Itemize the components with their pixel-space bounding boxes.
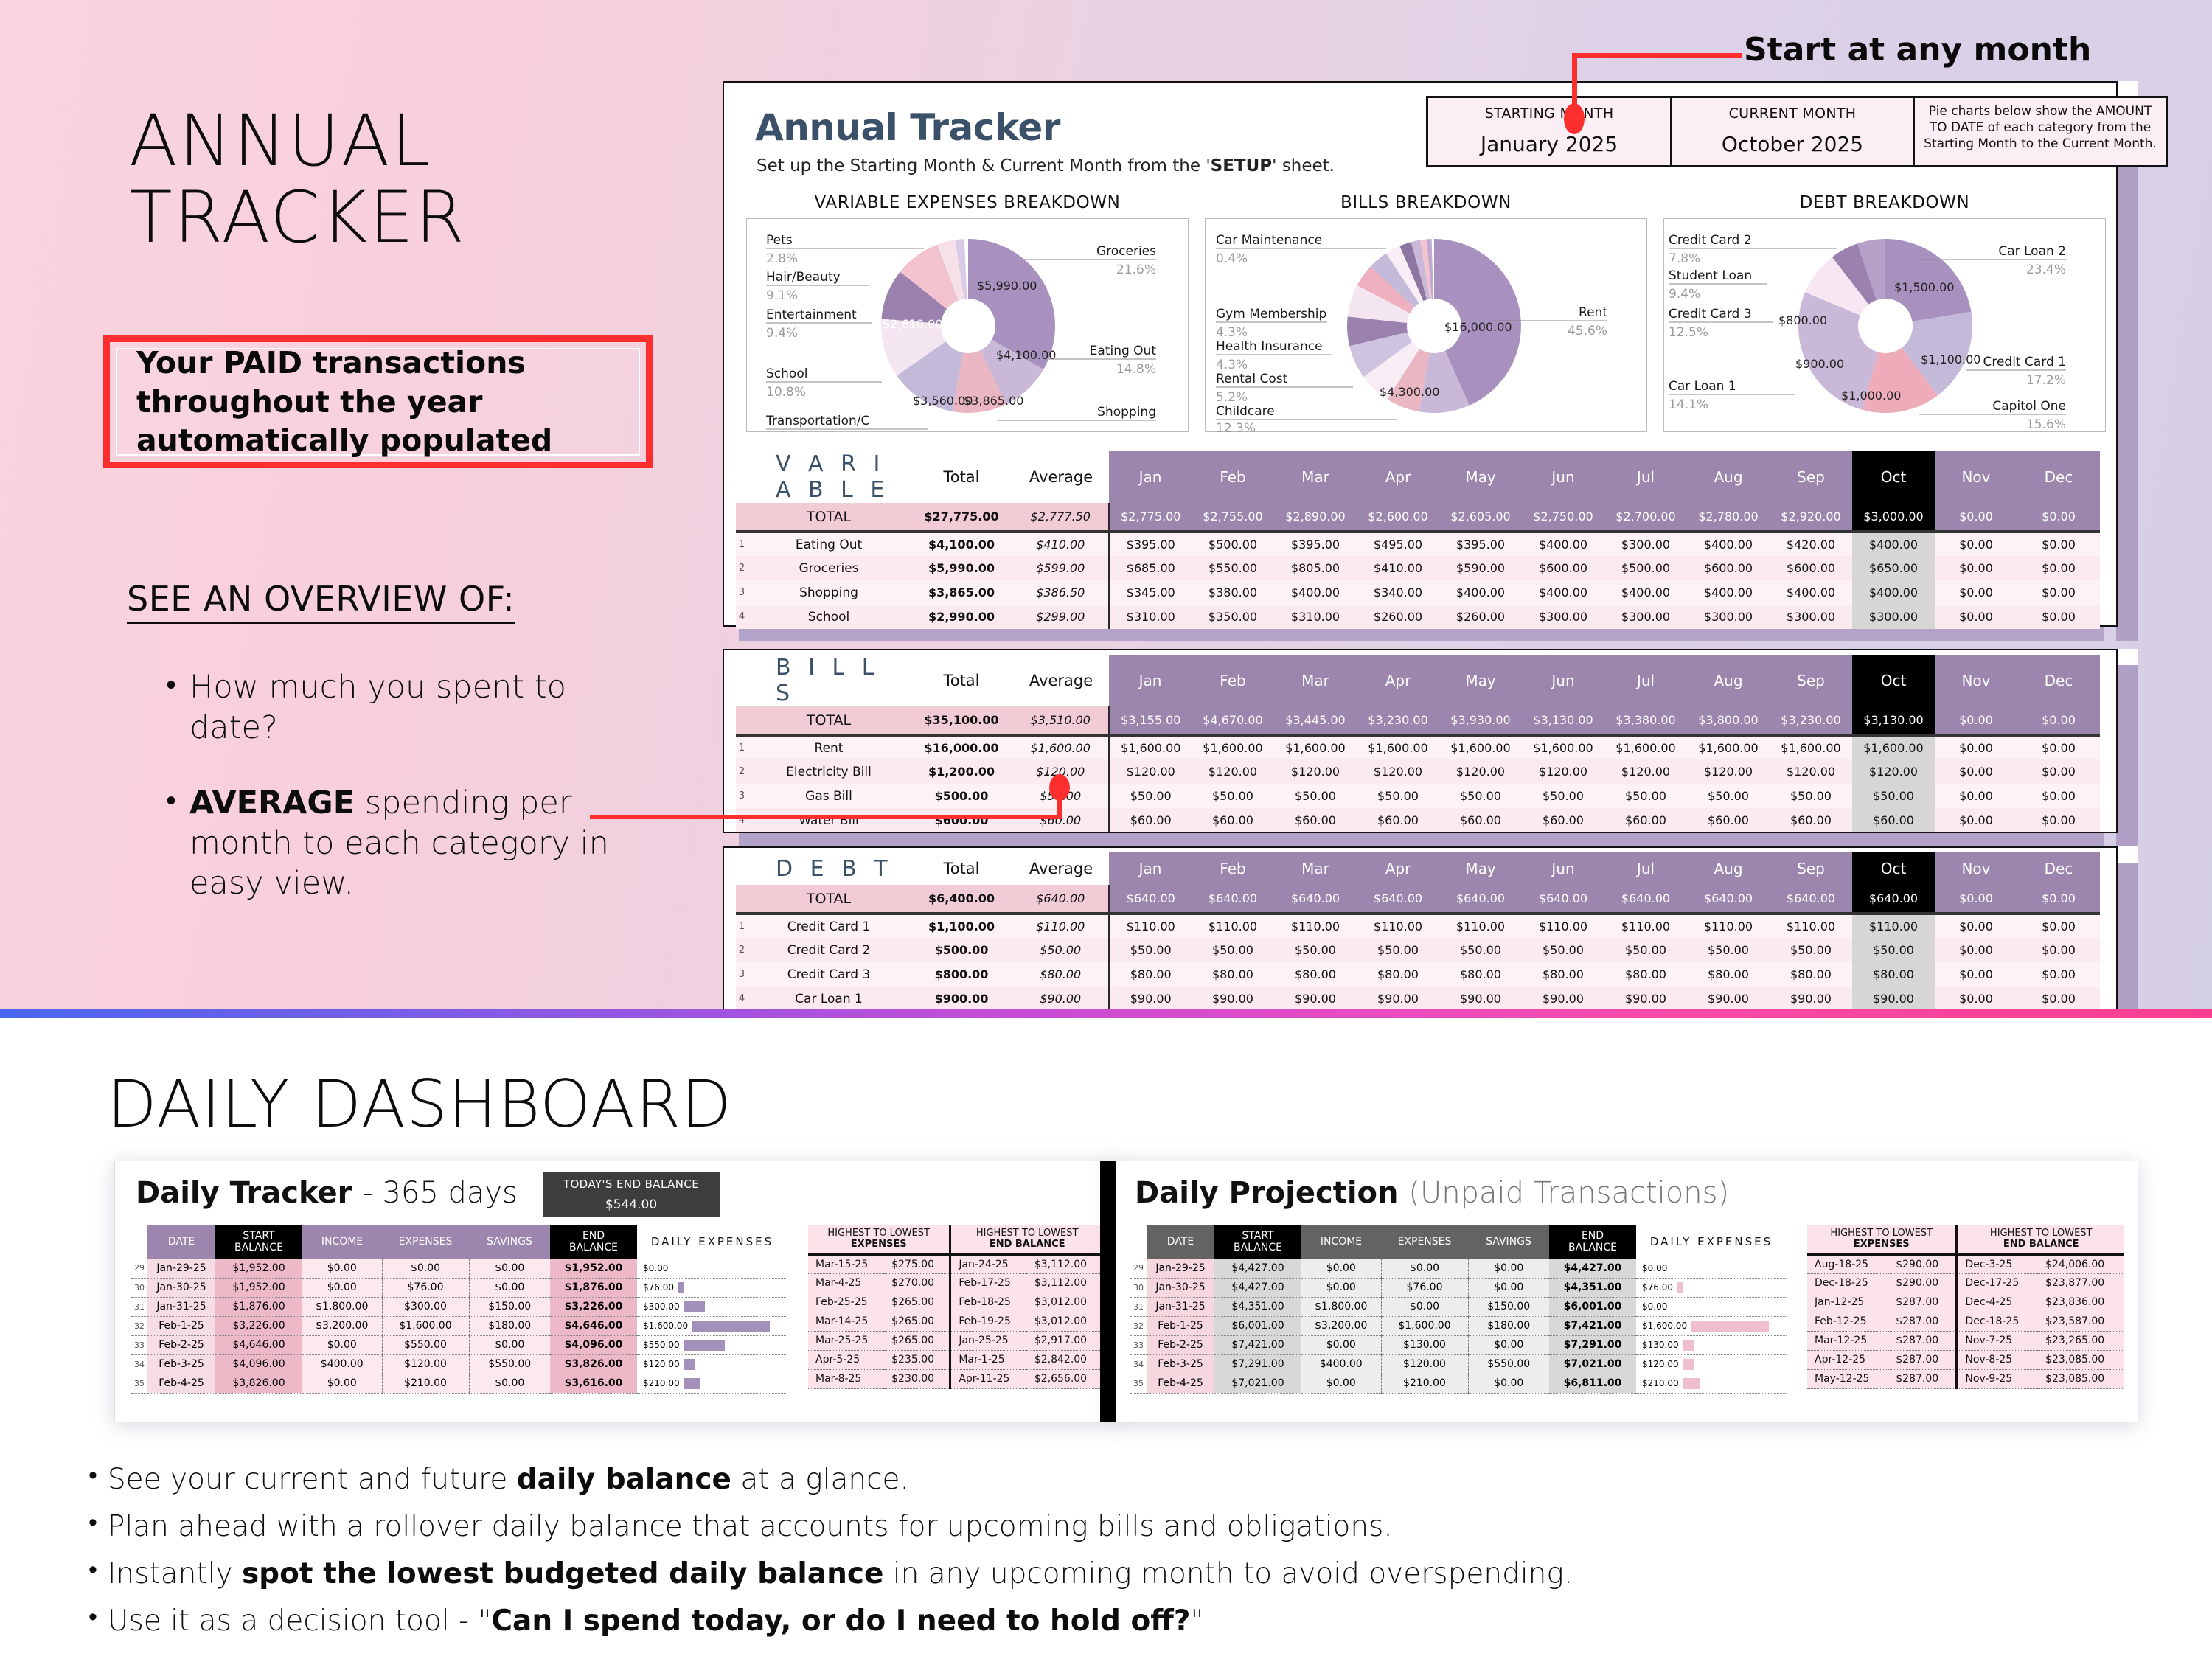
- cell-balance-date: Mar-1-25: [950, 1350, 1027, 1369]
- row-average: $299.00: [1013, 605, 1109, 629]
- row-number: 3: [736, 962, 748, 987]
- column-header-jul: Jul: [1604, 451, 1687, 503]
- month-cell: $120.00: [1852, 759, 1935, 784]
- row-average: $1,600.00: [1013, 735, 1109, 759]
- month-cell: $50.00: [1357, 938, 1439, 962]
- cell-expense-date: Jan-12-25: [1807, 1293, 1888, 1312]
- bullet-dot-icon: •: [166, 783, 176, 904]
- total-month-cell: $2,700.00: [1604, 503, 1687, 532]
- sheet-canvas: B I L L STotalAverageJanFebMarAprMayJunJ…: [723, 649, 2118, 833]
- bullet-dot-icon: •: [88, 1510, 97, 1544]
- total-row-average: $2,777.50: [1013, 503, 1109, 532]
- chart-title-bills: BILLS BREAKDOWN: [1205, 193, 1647, 212]
- month-cell: $120.00: [1109, 759, 1192, 784]
- sheet-bottom-shadow: [739, 627, 2104, 641]
- bullet-dot-icon: •: [88, 1463, 97, 1497]
- month-cell: $1,600.00: [1192, 735, 1274, 759]
- bills-table: B I L L STotalAverageJanFebMarAprMayJunJ…: [736, 655, 2100, 832]
- daily-dashboard-section: DAILY DASHBOARD Daily Tracker - 365 days…: [0, 1020, 2212, 1659]
- table-header-row: DATESTARTBALANCEINCOMEEXPENSESSAVINGSEND…: [1130, 1225, 1787, 1259]
- row-number: 34: [131, 1354, 147, 1374]
- column-header-savings: SAVINGS: [1468, 1225, 1549, 1259]
- table-total-row: TOTAL$27,775.00$2,777.50$2,775.00$2,755.…: [736, 503, 2100, 532]
- month-cell: $0.00: [1935, 808, 2017, 832]
- total-month-cell: $640.00: [1852, 885, 1935, 914]
- list-item: •Plan ahead with a rollover daily balanc…: [88, 1510, 2138, 1544]
- row-label: Credit Card 1: [748, 914, 910, 938]
- total-month-cell: $3,380.00: [1604, 706, 1687, 735]
- month-cell: $395.00: [1274, 532, 1357, 556]
- month-cell: $60.00: [1687, 808, 1770, 832]
- total-month-cell: $4,670.00: [1192, 706, 1274, 735]
- cell-income: $0.00: [302, 1278, 382, 1297]
- total-month-cell: $2,755.00: [1192, 503, 1274, 532]
- pie-label-credit-card-3: Credit Card 3: [1669, 307, 1752, 321]
- total-month-cell: $2,780.00: [1687, 503, 1770, 532]
- row-average: $80.00: [1013, 962, 1109, 987]
- total-month-cell: $2,605.00: [1439, 503, 1522, 532]
- pie-label-credit-card-2: Credit Card 2: [1669, 233, 1752, 248]
- dashboard-heading: DAILY DASHBOARD: [107, 1066, 732, 1142]
- month-cell: $650.00: [1852, 556, 1935, 580]
- total-month-cell: $640.00: [1192, 885, 1274, 914]
- annotation-start-at-any-month: Start at any month: [1744, 31, 2091, 69]
- column-header-oct: Oct: [1852, 655, 1935, 706]
- pie-value-eating-out: $4,100.00: [996, 348, 1056, 362]
- column-header-jan: Jan: [1109, 852, 1192, 885]
- table-row: 1Eating Out$4,100.00$410.00$395.00$500.0…: [736, 532, 2100, 556]
- cell-end-balance: $3,226.00: [550, 1297, 637, 1316]
- column-header-mar: Mar: [1274, 655, 1357, 706]
- table-row: 1Credit Card 1$1,100.00$110.00$110.00$11…: [736, 914, 2100, 938]
- bullet-dot-icon: •: [88, 1557, 97, 1591]
- pie-pct-credit-card-3: 12.5%: [1669, 325, 1708, 340]
- htl-balance-header: HIGHEST TO LOWESTEND BALANCE: [950, 1225, 1103, 1254]
- htl-balance-header: HIGHEST TO LOWESTEND BALANCE: [1957, 1225, 2124, 1254]
- month-cell: $400.00: [1687, 580, 1770, 605]
- cell-daily-expenses: $0.00: [1636, 1297, 1787, 1316]
- total-month-cell: $3,930.00: [1439, 706, 1522, 735]
- month-cell: $0.00: [1935, 938, 2017, 962]
- month-cell: $1,600.00: [1852, 735, 1935, 759]
- cell-expense-value: $287.00: [1888, 1350, 1957, 1369]
- column-header-income: INCOME: [1301, 1225, 1381, 1259]
- table-row: 2Electricity Bill$1,200.00$120.00$120.00…: [736, 759, 2100, 784]
- cell-balance-date: Nov-7-25: [1957, 1331, 2038, 1350]
- column-header-dec: Dec: [2017, 655, 2100, 706]
- table-row: 32Feb-1-25$6,001.00$3,200.00$1,600.00$18…: [1130, 1316, 1787, 1335]
- cell-expense-value: $287.00: [1888, 1293, 1957, 1312]
- total-row-average: $3,510.00: [1013, 706, 1109, 735]
- table-row: 2Groceries$5,990.00$599.00$685.00$550.00…: [736, 556, 2100, 580]
- cell-expenses: $210.00: [382, 1374, 469, 1393]
- month-cell: $0.00: [1935, 784, 2017, 808]
- cell-end-balance: $7,021.00: [1549, 1354, 1636, 1374]
- column-header-nov: Nov: [1935, 852, 2017, 885]
- pie-label-school: School: [766, 366, 807, 381]
- debt-table: D E B TTotalAverageJanFebMarAprMayJunJul…: [736, 852, 2100, 1011]
- cell-balance-value: $3,112.00: [1027, 1254, 1103, 1273]
- month-cell: $60.00: [1192, 808, 1274, 832]
- page-title: ANNUAL TRACKER: [129, 103, 704, 256]
- row-number-spacer: [736, 451, 748, 503]
- month-cell: $310.00: [1109, 605, 1192, 629]
- table-row: 4School$2,990.00$299.00$310.00$350.00$31…: [736, 605, 2100, 629]
- total-month-cell: $2,750.00: [1522, 503, 1604, 532]
- pie-label-childcare: Childcare: [1216, 404, 1275, 419]
- month-cell: $60.00: [1274, 808, 1357, 832]
- overview-heading: SEE AN OVERVIEW OF:: [127, 579, 515, 624]
- cell-expense-date: Apr-5-25: [808, 1350, 884, 1369]
- month-cell: $80.00: [1852, 962, 1935, 987]
- month-cell: $0.00: [2017, 605, 2100, 629]
- row-number: 31: [131, 1297, 147, 1316]
- month-cell: $90.00: [1522, 987, 1604, 1011]
- sheet-title: Annual Tracker: [755, 106, 1060, 149]
- cell-savings: $0.00: [469, 1259, 550, 1278]
- bullet-dot-icon: •: [88, 1604, 97, 1638]
- cell-balance-date: Jan-25-25: [950, 1331, 1027, 1350]
- cell-date: Jan-30-25: [1147, 1278, 1214, 1297]
- table-row: 32Feb-1-25$3,226.00$3,200.00$1,600.00$18…: [131, 1316, 787, 1335]
- month-cell: $90.00: [1687, 987, 1770, 1011]
- row-number: 33: [1130, 1335, 1147, 1354]
- total-month-cell: $3,230.00: [1357, 706, 1439, 735]
- sheet-edge-shadow: [2116, 863, 2138, 1018]
- month-cell: $120.00: [1439, 759, 1522, 784]
- cell-date: Feb-1-25: [1147, 1316, 1214, 1335]
- pie-pct-car-maintenance: 0.4%: [1216, 251, 1248, 266]
- cell-expense-value: $287.00: [1888, 1312, 1957, 1331]
- column-header-mar: Mar: [1274, 451, 1357, 503]
- cell-expense-value: $290.00: [1888, 1273, 1957, 1293]
- month-cell: $400.00: [1687, 532, 1770, 556]
- month-cell: $120.00: [1770, 759, 1852, 784]
- month-cell: $500.00: [1604, 556, 1687, 580]
- pie-value-transportation: $3,560.00: [913, 394, 973, 408]
- cell-balance-date: Nov-9-25: [1957, 1369, 2038, 1388]
- section-divider: [1100, 1161, 1116, 1422]
- month-cell: $1,600.00: [1274, 735, 1357, 759]
- page-title-line2: TRACKER: [129, 180, 704, 257]
- column-header-jan: Jan: [1109, 451, 1192, 503]
- total-month-cell: $3,130.00: [1522, 706, 1604, 735]
- month-cell: $395.00: [1439, 532, 1522, 556]
- column-header-feb: Feb: [1192, 852, 1274, 885]
- cell-daily-expenses: $120.00: [637, 1354, 787, 1374]
- column-header-apr: Apr: [1357, 655, 1439, 706]
- highest-lowest-projection-table: HIGHEST TO LOWESTEXPENSESHIGHEST TO LOWE…: [1807, 1225, 2124, 1389]
- column-header-date: DATE: [1147, 1225, 1214, 1259]
- column-header-total: Total: [910, 655, 1013, 706]
- column-header-average: Average: [1013, 451, 1109, 503]
- cell-expense-date: Mar-4-25: [808, 1273, 884, 1293]
- row-label: Credit Card 2: [748, 938, 910, 962]
- month-cell: $0.00: [2017, 962, 2100, 987]
- column-header-mar: Mar: [1274, 852, 1357, 885]
- month-cell: $400.00: [1852, 532, 1935, 556]
- cell-date: Jan-31-25: [147, 1297, 215, 1316]
- column-header-expenses: EXPENSES: [1381, 1225, 1468, 1259]
- month-cell: $590.00: [1439, 556, 1522, 580]
- month-cell: $0.00: [1935, 759, 2017, 784]
- cell-end-balance: $6,001.00: [1549, 1297, 1636, 1316]
- row-label: Gas Bill: [748, 784, 910, 808]
- total-month-cell: $3,000.00: [1852, 503, 1935, 532]
- list-item: • How much you spent to date?: [166, 667, 653, 748]
- todays-end-balance-value: $544.00: [543, 1197, 720, 1212]
- current-month-box[interactable]: CURRENT MONTH October 2025: [1672, 98, 1915, 165]
- column-header-total: Total: [910, 852, 1013, 885]
- cell-expense-value: $265.00: [884, 1331, 950, 1350]
- highest-lowest-tracker-table: HIGHEST TO LOWESTEXPENSESHIGHEST TO LOWE…: [808, 1225, 1103, 1389]
- cell-expenses: $76.00: [1381, 1278, 1468, 1297]
- cell-date: Feb-2-25: [1147, 1335, 1214, 1354]
- cell-expenses: $1,600.00: [382, 1316, 469, 1335]
- month-selector-bar: STARTING MONTH January 2025 CURRENT MONT…: [1426, 96, 2168, 167]
- column-header-jul: Jul: [1604, 655, 1687, 706]
- month-cell: $345.00: [1109, 580, 1192, 605]
- cell-savings: $0.00: [1468, 1259, 1549, 1278]
- cell-income: $0.00: [1301, 1374, 1381, 1393]
- table-row: 31Jan-31-25$4,351.00$1,800.00$0.00$150.0…: [1130, 1297, 1787, 1316]
- cell-expenses: $210.00: [1381, 1374, 1468, 1393]
- cell-expenses: $0.00: [1381, 1297, 1468, 1316]
- month-cell: $110.00: [1274, 914, 1357, 938]
- column-header-dec: Dec: [2017, 852, 2100, 885]
- cell-start-balance: $6,001.00: [1214, 1316, 1301, 1335]
- cell-balance-value: $23,265.00: [2038, 1331, 2124, 1350]
- month-cell: $120.00: [1604, 759, 1687, 784]
- column-header-feb: Feb: [1192, 655, 1274, 706]
- column-header-sep: Sep: [1770, 852, 1852, 885]
- pie-value-credit-card-1: $1,100.00: [1921, 352, 1980, 366]
- row-total: $1,200.00: [910, 759, 1013, 784]
- column-header-daily-expenses: DAILY EXPENSES: [1636, 1225, 1787, 1259]
- table-row: 30Jan-30-25$1,952.00$0.00$76.00$0.00$1,8…: [131, 1278, 787, 1297]
- pie-svg-debt: $1,500.00 $1,100.00 $1,000.00 $900.00 $8…: [1664, 219, 2107, 433]
- cell-start-balance: $7,291.00: [1214, 1354, 1301, 1374]
- table-row: 4Car Loan 1$900.00$90.00$90.00$90.00$90.…: [736, 987, 2100, 1011]
- column-header-start-balance: STARTBALANCE: [1214, 1225, 1301, 1259]
- month-cell: $400.00: [1604, 580, 1687, 605]
- total-month-cell: $3,445.00: [1274, 706, 1357, 735]
- cell-date: Jan-31-25: [1147, 1297, 1214, 1316]
- current-month-label: CURRENT MONTH: [1683, 105, 1902, 122]
- table-row: 30Jan-30-25$4,427.00$0.00$76.00$0.00$4,3…: [1130, 1278, 1787, 1297]
- cell-savings: $0.00: [1468, 1278, 1549, 1297]
- pie-value-car-loan-1: $900.00: [1795, 357, 1844, 371]
- row-number: 4: [736, 808, 748, 832]
- annual-tracker-sheet: Annual Tracker Set up the Starting Month…: [723, 81, 2138, 627]
- month-cell: $600.00: [1770, 556, 1852, 580]
- row-number: 35: [131, 1374, 147, 1393]
- table-header-row: HIGHEST TO LOWESTEXPENSESHIGHEST TO LOWE…: [1807, 1225, 2124, 1254]
- total-row-label: TOTAL: [748, 503, 910, 532]
- table-row: Jan-12-25$287.00Dec-4-25$23,836.00: [1807, 1293, 2124, 1312]
- column-header-apr: Apr: [1357, 451, 1439, 503]
- pie-chart-row: VARIABLE EXPENSES BREAKDOWN: [746, 193, 2106, 432]
- pie-pct-credit-card-2: 7.8%: [1669, 251, 1700, 266]
- cell-date: Feb-4-25: [147, 1374, 215, 1393]
- column-header-average: Average: [1013, 852, 1109, 885]
- cell-expense-value: $290.00: [1888, 1254, 1957, 1273]
- cell-expenses: $300.00: [382, 1297, 469, 1316]
- starting-month-value: January 2025: [1440, 132, 1658, 156]
- month-cell: $410.00: [1357, 556, 1439, 580]
- month-cell: $90.00: [1274, 987, 1357, 1011]
- cell-end-balance: $6,811.00: [1549, 1374, 1636, 1393]
- cell-expense-date: Mar-15-25: [808, 1254, 884, 1273]
- column-header-jun: Jun: [1522, 655, 1604, 706]
- pie-label-car-loan-1: Car Loan 1: [1669, 379, 1736, 394]
- month-cell: $120.00: [1687, 759, 1770, 784]
- month-cell: $110.00: [1852, 914, 1935, 938]
- table-row: 29Jan-29-25$1,952.00$0.00$0.00$0.00$1,95…: [131, 1259, 787, 1278]
- sheet-canvas: D E B TTotalAverageJanFebMarAprMayJunJul…: [723, 846, 2118, 1010]
- month-cell: $60.00: [1770, 808, 1852, 832]
- column-header-total: Total: [910, 451, 1013, 503]
- column-header-may: May: [1439, 852, 1522, 885]
- bullet-text: Plan ahead with a rollover daily balance…: [108, 1510, 1393, 1544]
- callout-text: Your PAID transactions throughout the ye…: [136, 344, 619, 459]
- bills-sheet: B I L L STotalAverageJanFebMarAprMayJunJ…: [723, 649, 2138, 833]
- month-cell: $600.00: [1687, 556, 1770, 580]
- cell-expense-value: $230.00: [884, 1369, 950, 1388]
- total-month-cell: $2,920.00: [1770, 503, 1852, 532]
- column-header-daily-expenses: DAILY EXPENSES: [637, 1225, 787, 1259]
- month-cell: $50.00: [1274, 938, 1357, 962]
- total-row-total: $6,400.00: [910, 885, 1013, 914]
- table-header-row: B I L L STotalAverageJanFebMarAprMayJunJ…: [736, 655, 2100, 706]
- month-cell: $90.00: [1439, 987, 1522, 1011]
- pie-value-credit-card-3: $800.00: [1778, 313, 1827, 327]
- cell-start-balance: $7,021.00: [1214, 1374, 1301, 1393]
- month-cell: $400.00: [1274, 580, 1357, 605]
- cell-savings: $0.00: [1468, 1374, 1549, 1393]
- row-number: 32: [131, 1316, 147, 1335]
- month-cell: $60.00: [1109, 808, 1192, 832]
- table-header-row: DATESTARTBALANCEINCOMEEXPENSESSAVINGSEND…: [131, 1225, 787, 1259]
- row-average: $599.00: [1013, 556, 1109, 580]
- month-cell: $0.00: [1935, 987, 2017, 1011]
- cell-expenses: $120.00: [382, 1354, 469, 1374]
- cell-daily-expenses: $120.00: [1636, 1354, 1787, 1374]
- row-label: School: [748, 605, 910, 629]
- chart-card-debt: DEBT BREAKDOWN: [1663, 193, 2106, 432]
- row-label: Water Bill: [748, 808, 910, 832]
- cell-income: $0.00: [302, 1335, 382, 1354]
- cell-savings: $0.00: [469, 1335, 550, 1354]
- cell-start-balance: $3,226.00: [215, 1316, 302, 1335]
- total-month-cell: $640.00: [1522, 885, 1604, 914]
- month-cell: $50.00: [1604, 938, 1687, 962]
- row-number: 30: [1130, 1278, 1147, 1297]
- month-cell: $80.00: [1109, 962, 1192, 987]
- month-cell: $110.00: [1604, 914, 1687, 938]
- total-month-cell: $0.00: [1935, 503, 2017, 532]
- total-row-label: TOTAL: [748, 885, 910, 914]
- cell-balance-value: $3,012.00: [1027, 1293, 1103, 1312]
- starting-month-box[interactable]: STARTING MONTH January 2025: [1428, 98, 1672, 165]
- month-cell: $80.00: [1192, 962, 1274, 987]
- cell-expense-date: Mar-8-25: [808, 1369, 884, 1388]
- cell-savings: $0.00: [469, 1374, 550, 1393]
- table-row: Aug-18-25$290.00Dec-3-25$24,006.00: [1807, 1254, 2124, 1273]
- month-cell: $50.00: [1522, 938, 1604, 962]
- month-cell: $400.00: [1522, 532, 1604, 556]
- cell-date: Feb-2-25: [147, 1335, 215, 1354]
- month-cell: $395.00: [1109, 532, 1192, 556]
- month-cell: $80.00: [1770, 962, 1852, 987]
- cell-date: Feb-3-25: [147, 1354, 215, 1374]
- month-cell: $80.00: [1687, 962, 1770, 987]
- cell-daily-expenses: $210.00: [1636, 1374, 1787, 1393]
- total-month-cell: $3,130.00: [1852, 706, 1935, 735]
- sheet-edge-shadow: [2116, 665, 2138, 848]
- table-row: Mar-12-25$287.00Nov-7-25$23,265.00: [1807, 1331, 2124, 1350]
- chart-title-variable: VARIABLE EXPENSES BREAKDOWN: [746, 193, 1189, 212]
- column-header-jan: Jan: [1109, 655, 1192, 706]
- pie-value-capitol-one: $1,000.00: [1841, 389, 1901, 403]
- cell-expenses: $0.00: [1381, 1259, 1468, 1278]
- cell-expense-value: $275.00: [884, 1254, 950, 1273]
- sheet-canvas: Annual Tracker Set up the Starting Month…: [723, 81, 2118, 627]
- debt-sheet: D E B TTotalAverageJanFebMarAprMayJunJul…: [723, 846, 2138, 1010]
- cell-date: Jan-30-25: [147, 1278, 215, 1297]
- cell-end-balance: $7,421.00: [1549, 1316, 1636, 1335]
- pie-pct-gym-membership: 4.3%: [1216, 325, 1248, 340]
- cell-income: $0.00: [1301, 1278, 1381, 1297]
- table-row: 33Feb-2-25$4,646.00$0.00$550.00$0.00$4,0…: [131, 1335, 787, 1354]
- annotation-line-horizontal: [1572, 53, 1742, 58]
- table-row: May-12-25$287.00Nov-9-25$23,085.00: [1807, 1369, 2124, 1388]
- table-row: 3Credit Card 3$800.00$80.00$80.00$80.00$…: [736, 962, 2100, 987]
- cell-start-balance: $1,876.00: [215, 1297, 302, 1316]
- pie-pct-health-insurance: 4.3%: [1216, 358, 1248, 372]
- pie-label-car-maintenance: Car Maintenance: [1216, 233, 1322, 248]
- cell-expense-date: Mar-25-25: [808, 1331, 884, 1350]
- cell-balance-value: $23,587.00: [2038, 1312, 2124, 1331]
- row-number: 31: [1130, 1297, 1147, 1316]
- pie-label-credit-card-1: Credit Card 1: [1983, 355, 2066, 369]
- cell-balance-date: Dec-4-25: [1957, 1293, 2038, 1312]
- month-cell: $50.00: [1770, 938, 1852, 962]
- cell-balance-value: $3,112.00: [1027, 1273, 1103, 1293]
- cell-expense-date: Feb-25-25: [808, 1293, 884, 1312]
- row-total: $600.00: [910, 808, 1013, 832]
- month-cell: $60.00: [1357, 808, 1439, 832]
- row-number: 33: [131, 1335, 147, 1354]
- column-header-aug: Aug: [1687, 655, 1770, 706]
- row-average: $90.00: [1013, 987, 1109, 1011]
- list-item: •Use it as a decision tool - "Can I spen…: [88, 1604, 2138, 1638]
- month-cell: $60.00: [1439, 808, 1522, 832]
- column-header-jun: Jun: [1522, 451, 1604, 503]
- row-number: 1: [736, 735, 748, 759]
- table-category-title: B I L L S: [748, 655, 910, 706]
- left-promo-panel: ANNUAL TRACKER Your PAID transactions th…: [0, 0, 723, 1009]
- cell-income: $3,200.00: [302, 1316, 382, 1335]
- todays-end-balance-badge: TODAY'S END BALANCE $544.00: [543, 1172, 720, 1217]
- month-cell: $50.00: [1604, 784, 1687, 808]
- page-title-line1: ANNUAL: [129, 100, 432, 182]
- row-total: $16,000.00: [910, 735, 1013, 759]
- cell-daily-expenses: $210.00: [637, 1374, 787, 1393]
- chart-title-debt: DEBT BREAKDOWN: [1663, 193, 2106, 212]
- cell-daily-expenses: $550.00: [637, 1335, 787, 1354]
- variable-table: V A R I A B L ETotalAverageJanFebMarAprM…: [736, 451, 2100, 629]
